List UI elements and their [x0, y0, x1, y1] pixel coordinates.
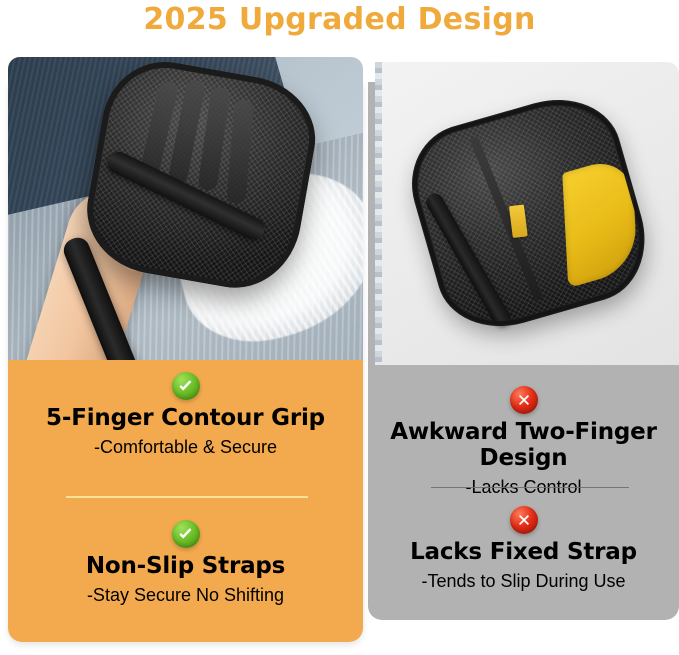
- con-product-photo: [375, 62, 679, 365]
- page-title: 2025 Upgraded Design: [0, 2, 679, 37]
- con-feature-2-title: Lacks Fixed Strap: [368, 540, 679, 566]
- comparison-infographic: 2025 Upgraded Design Awkward Two-Finger …: [0, 0, 679, 655]
- photo-edge-sliver: [375, 62, 382, 365]
- pro-feature-1-title: 5-Finger Contour Grip: [8, 406, 363, 432]
- green-check-icon: [172, 372, 200, 400]
- two-finger-mitt-illustration: [399, 85, 660, 341]
- con-feature-1: Awkward Two-Finger Design -Lacks Control: [368, 386, 679, 498]
- red-cross-icon: [510, 386, 538, 414]
- pro-divider: [66, 496, 308, 498]
- pro-feature-2: Non-Slip Straps -Stay Secure No Shifting: [8, 520, 363, 606]
- con-feature-1-title: Awkward Two-Finger Design: [368, 420, 679, 472]
- pro-feature-1-subtitle: -Comfortable & Secure: [8, 437, 363, 459]
- con-feature-2-subtitle: -Tends to Slip During Use: [368, 571, 679, 593]
- pro-feature-2-title: Non-Slip Straps: [8, 554, 363, 580]
- con-feature-2: Lacks Fixed Strap -Tends to Slip During …: [368, 506, 679, 592]
- pro-feature-1: 5-Finger Contour Grip -Comfortable & Sec…: [8, 372, 363, 458]
- red-cross-icon: [510, 506, 538, 534]
- green-check-icon: [172, 520, 200, 548]
- con-divider: [431, 487, 629, 488]
- pro-product-photo: [8, 57, 363, 360]
- five-finger-mitt-illustration: [77, 57, 325, 298]
- mitt-rim: [397, 84, 660, 343]
- pro-feature-2-subtitle: -Stay Secure No Shifting: [8, 585, 363, 607]
